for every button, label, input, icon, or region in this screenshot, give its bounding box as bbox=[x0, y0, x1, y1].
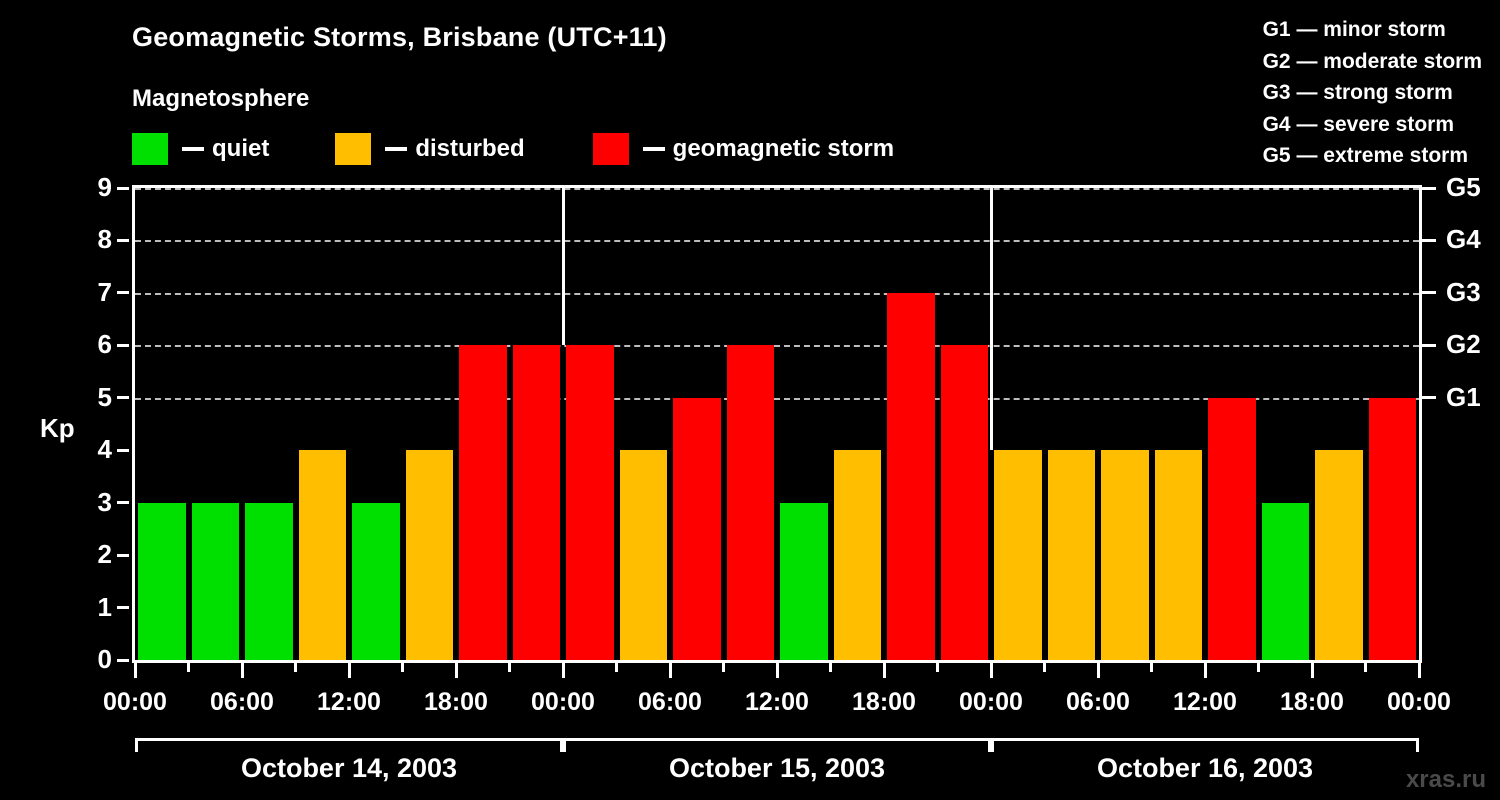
gscale-item-g5: G5 — extreme storm bbox=[1263, 140, 1482, 172]
x-tick-label: 00:00 bbox=[1359, 688, 1479, 717]
y-tick-label-7: 7 bbox=[72, 279, 112, 305]
page-title: Geomagnetic Storms, Brisbane (UTC+11) bbox=[132, 22, 667, 53]
y-tick-label-6: 6 bbox=[72, 331, 112, 357]
day-bracket-1 bbox=[563, 738, 991, 752]
g-tick-G3 bbox=[1422, 291, 1436, 294]
legend-swatch-0 bbox=[132, 133, 168, 165]
day-bracket-2 bbox=[991, 738, 1419, 752]
y-tick-2 bbox=[117, 554, 129, 557]
x-tick-minor bbox=[615, 663, 618, 672]
bar bbox=[1208, 398, 1256, 660]
x-tick-label: 06:00 bbox=[1038, 688, 1158, 717]
gscale-item-g2: G2 — moderate storm bbox=[1263, 46, 1482, 78]
x-tick-major bbox=[455, 663, 458, 678]
g-tick-G5 bbox=[1422, 187, 1436, 190]
legend-item-0[interactable]: quiet bbox=[132, 133, 269, 165]
y-tick-label-4: 4 bbox=[72, 436, 112, 462]
gridline-kp-9 bbox=[135, 188, 1419, 190]
gridline-kp-6 bbox=[135, 345, 1419, 347]
bar bbox=[138, 503, 186, 660]
x-tick-label: 00:00 bbox=[503, 688, 623, 717]
x-tick-minor bbox=[1043, 663, 1046, 672]
y-tick-label-5: 5 bbox=[72, 384, 112, 410]
day-label-2: October 16, 2003 bbox=[991, 753, 1419, 784]
x-tick-label: 00:00 bbox=[75, 688, 195, 717]
x-tick-label: 12:00 bbox=[717, 688, 837, 717]
legend-dash-icon bbox=[385, 147, 407, 151]
bar bbox=[887, 293, 935, 660]
bar bbox=[566, 345, 614, 660]
magnetosphere-section-label: Magnetosphere bbox=[132, 85, 309, 113]
x-tick-minor bbox=[722, 663, 725, 672]
x-tick-minor bbox=[829, 663, 832, 672]
x-tick-major bbox=[669, 663, 672, 678]
g-tick-label-G5: G5 bbox=[1446, 174, 1481, 200]
y-tick-label-2: 2 bbox=[72, 541, 112, 567]
bar bbox=[673, 398, 721, 660]
x-tick-label: 06:00 bbox=[182, 688, 302, 717]
y-tick-4 bbox=[117, 449, 129, 452]
gscale-item-g4: G4 — severe storm bbox=[1263, 109, 1482, 141]
y-tick-6 bbox=[117, 344, 129, 347]
g-tick-label-G1: G1 bbox=[1446, 384, 1481, 410]
x-tick-minor bbox=[401, 663, 404, 672]
x-tick-minor bbox=[1150, 663, 1153, 672]
gridline-kp-7 bbox=[135, 293, 1419, 295]
g-tick-G1 bbox=[1422, 396, 1436, 399]
x-tick-minor bbox=[1364, 663, 1367, 672]
bar bbox=[299, 450, 347, 660]
bar bbox=[406, 450, 454, 660]
g-tick-G2 bbox=[1422, 344, 1436, 347]
x-tick-major bbox=[1097, 663, 1100, 678]
gscale-item-g1: G1 — minor storm bbox=[1263, 14, 1482, 46]
y-tick-label-3: 3 bbox=[72, 489, 112, 515]
g-tick-G4 bbox=[1422, 239, 1436, 242]
x-tick-major bbox=[776, 663, 779, 678]
x-tick-label: 00:00 bbox=[931, 688, 1051, 717]
g-tick-label-G3: G3 bbox=[1446, 279, 1481, 305]
y-axis-title: Kp bbox=[40, 413, 75, 444]
legend-label-0: quiet bbox=[212, 133, 269, 165]
x-tick-label: 18:00 bbox=[824, 688, 944, 717]
y-tick-7 bbox=[117, 291, 129, 294]
x-tick-minor bbox=[936, 663, 939, 672]
category-legend: quietdisturbedgeomagnetic storm bbox=[132, 133, 894, 165]
day-label-1: October 15, 2003 bbox=[563, 753, 991, 784]
bar bbox=[1369, 398, 1417, 660]
legend-dash-icon bbox=[182, 147, 204, 151]
x-tick-label: 12:00 bbox=[289, 688, 409, 717]
legend-swatch-1 bbox=[335, 133, 371, 165]
legend-label-1: disturbed bbox=[415, 133, 524, 165]
day-bracket-0 bbox=[135, 738, 563, 752]
y-tick-3 bbox=[117, 501, 129, 504]
x-tick-minor bbox=[1257, 663, 1260, 672]
gridline-kp-8 bbox=[135, 240, 1419, 242]
watermark: xras.ru bbox=[1406, 766, 1486, 794]
y-tick-label-0: 0 bbox=[72, 646, 112, 672]
bar bbox=[1315, 450, 1363, 660]
g-tick-label-G4: G4 bbox=[1446, 226, 1481, 252]
x-tick-major bbox=[241, 663, 244, 678]
x-tick-label: 18:00 bbox=[1252, 688, 1372, 717]
bar bbox=[192, 503, 240, 660]
x-tick-major bbox=[348, 663, 351, 678]
bar bbox=[459, 345, 507, 660]
x-tick-minor bbox=[508, 663, 511, 672]
x-tick-minor bbox=[187, 663, 190, 672]
gscale-legend: G1 — minor stormG2 — moderate stormG3 — … bbox=[1263, 14, 1482, 172]
bar bbox=[1101, 450, 1149, 660]
legend-swatch-2 bbox=[593, 133, 629, 165]
x-tick-major bbox=[562, 663, 565, 678]
y-tick-1 bbox=[117, 606, 129, 609]
day-divider-1 bbox=[562, 188, 565, 345]
y-tick-8 bbox=[117, 239, 129, 242]
y-tick-label-9: 9 bbox=[72, 174, 112, 200]
x-tick-major bbox=[134, 663, 137, 678]
bar bbox=[513, 345, 561, 660]
bar bbox=[1155, 450, 1203, 660]
g-tick-label-G2: G2 bbox=[1446, 331, 1481, 357]
y-tick-0 bbox=[117, 659, 129, 662]
bar bbox=[245, 503, 293, 660]
bar bbox=[1262, 503, 1310, 660]
plot-area bbox=[132, 185, 1422, 663]
x-tick-label: 12:00 bbox=[1145, 688, 1265, 717]
x-tick-major bbox=[1204, 663, 1207, 678]
y-tick-label-1: 1 bbox=[72, 594, 112, 620]
x-tick-major bbox=[883, 663, 886, 678]
bar bbox=[834, 450, 882, 660]
x-tick-label: 06:00 bbox=[610, 688, 730, 717]
legend-item-2[interactable]: geomagnetic storm bbox=[593, 133, 894, 165]
y-tick-5 bbox=[117, 396, 129, 399]
bar bbox=[994, 450, 1042, 660]
x-tick-major bbox=[1311, 663, 1314, 678]
day-divider-2 bbox=[990, 188, 993, 450]
bar bbox=[727, 345, 775, 660]
bar bbox=[941, 345, 989, 660]
x-tick-label: 18:00 bbox=[396, 688, 516, 717]
x-tick-major bbox=[990, 663, 993, 678]
bar bbox=[352, 503, 400, 660]
legend-item-1[interactable]: disturbed bbox=[335, 133, 524, 165]
gscale-item-g3: G3 — strong storm bbox=[1263, 77, 1482, 109]
x-tick-minor bbox=[294, 663, 297, 672]
y-tick-label-8: 8 bbox=[72, 226, 112, 252]
bar bbox=[780, 503, 828, 660]
x-tick-major bbox=[1418, 663, 1421, 678]
day-label-0: October 14, 2003 bbox=[135, 753, 563, 784]
legend-dash-icon bbox=[643, 147, 665, 151]
bar bbox=[1048, 450, 1096, 660]
bar bbox=[620, 450, 668, 660]
y-tick-9 bbox=[117, 187, 129, 190]
legend-label-2: geomagnetic storm bbox=[673, 133, 894, 165]
